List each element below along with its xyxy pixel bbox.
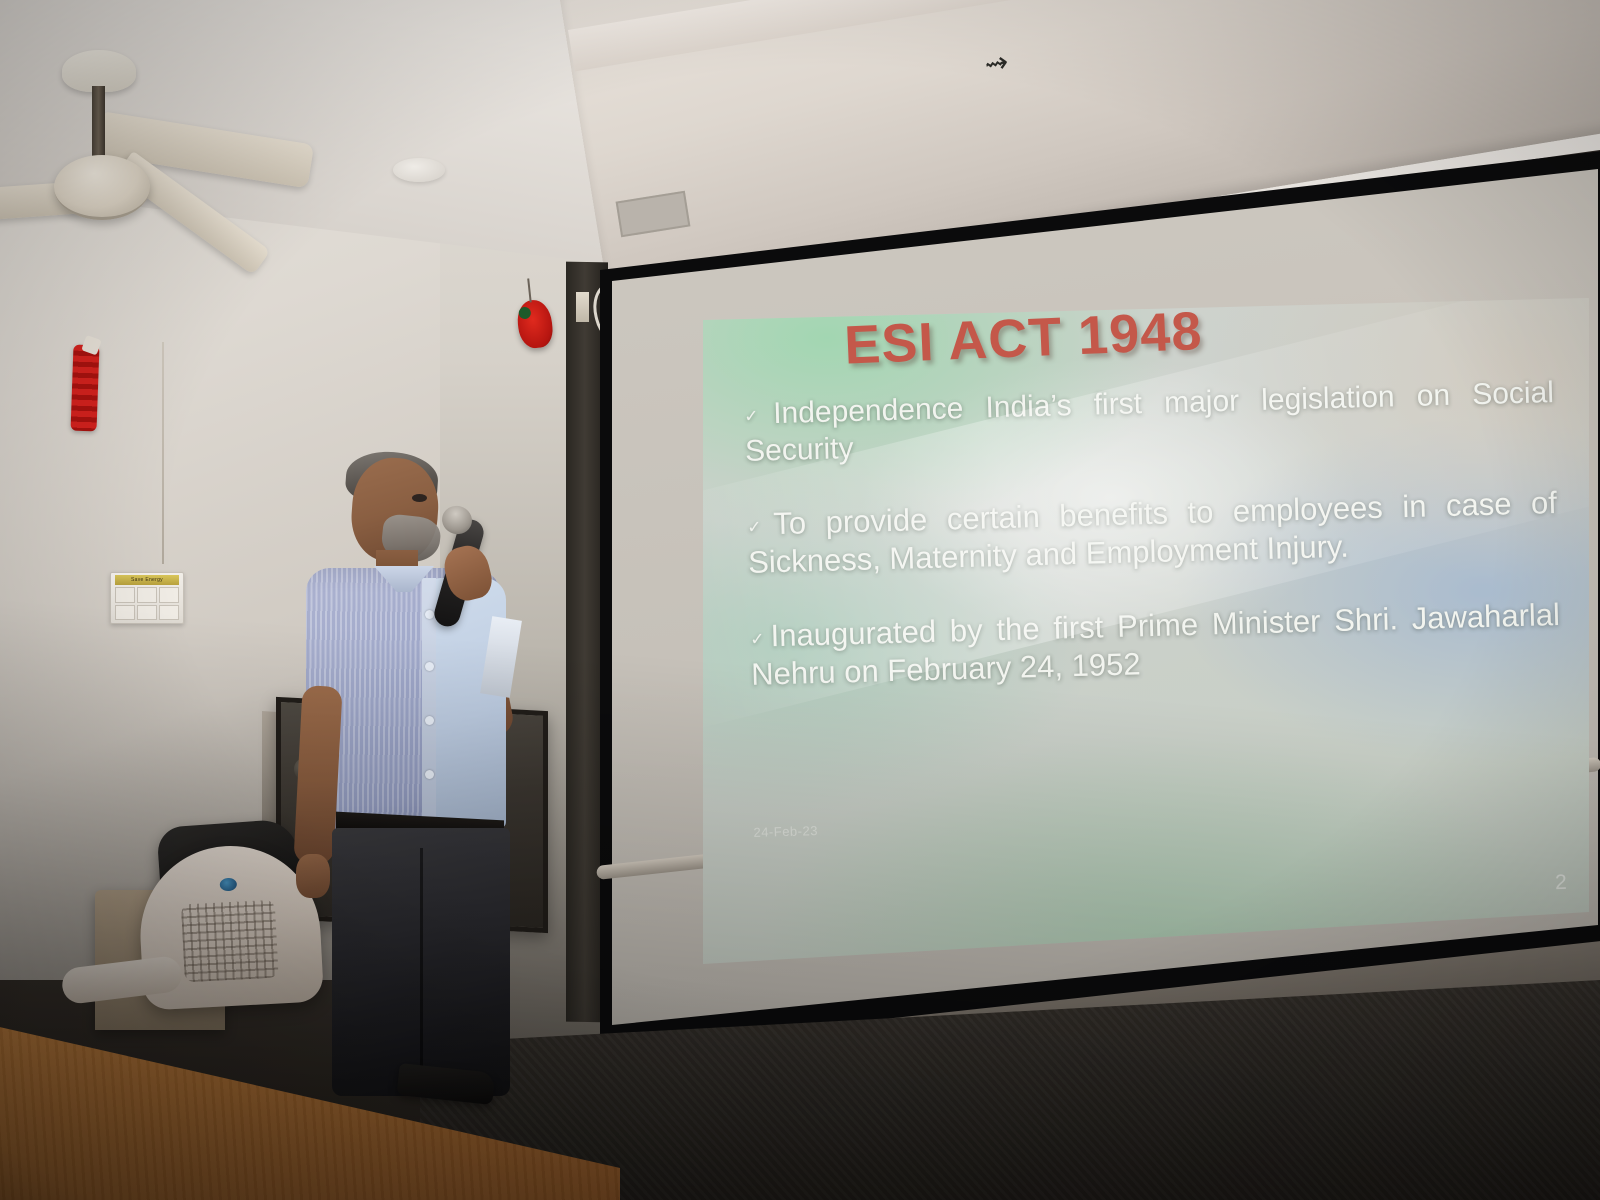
switch-plate-label: Save Energy	[115, 575, 179, 585]
shirt-button-icon	[425, 610, 434, 619]
slide-bullet-2-text: To provide certain benefits to employees…	[748, 485, 1558, 580]
presenter-left-hand	[296, 854, 330, 898]
slide-bullet-3-text: Inaugurated by the first Prime Minister …	[751, 597, 1561, 692]
switch-key[interactable]	[159, 605, 179, 621]
chair-badge-icon	[219, 878, 237, 892]
slide-bullet-1: ✓Independence India’s first major legisl…	[744, 375, 1556, 470]
ceiling-fan-icon	[54, 155, 150, 220]
switch-key[interactable]	[137, 587, 157, 603]
switch-key[interactable]	[115, 605, 135, 621]
slide-bullet-3: ✓Inaugurated by the first Prime Minister…	[750, 596, 1562, 694]
switch-key[interactable]	[115, 587, 135, 603]
shirt-button-icon	[425, 770, 434, 779]
ceiling-fan-rod	[92, 86, 105, 160]
shirt-button-icon	[425, 662, 434, 671]
checkmark-icon: ✓	[744, 406, 773, 426]
slide-date-stamp: 24-Feb-23	[753, 823, 818, 840]
projected-slide: ESI ACT 1948 ✓Independence India’s first…	[703, 298, 1589, 964]
slide-number: 2	[1555, 871, 1567, 895]
slide-bullet-1-text: Independence India’s first major legisla…	[745, 376, 1555, 467]
chair-backrest-mesh	[181, 900, 279, 983]
slide-bullet-list: ✓Independence India’s first major legisl…	[744, 375, 1563, 729]
switch-key[interactable]	[137, 605, 157, 621]
presenter	[290, 450, 520, 1100]
presenter-leg-seam	[420, 848, 423, 1092]
switch-key[interactable]	[159, 587, 179, 603]
wall-junction-box	[576, 292, 589, 322]
checkmark-icon: ✓	[747, 517, 773, 537]
red-garland-decoration	[71, 345, 100, 432]
presenter-eye	[412, 494, 427, 502]
switch-grid[interactable]	[115, 587, 179, 620]
fan-pull-cord[interactable]	[162, 342, 164, 564]
light-switch-plate[interactable]: Save Energy	[110, 572, 184, 624]
presentation-room-photo: ⇝ Save Energy ESI ACT 1948 ✓Indep	[0, 0, 1600, 1200]
smoke-detector-icon	[393, 158, 445, 182]
checkmark-icon: ✓	[750, 629, 770, 649]
shirt-button-icon	[425, 716, 434, 725]
slide-content: ESI ACT 1948 ✓Independence India’s first…	[703, 298, 1589, 964]
slide-bullet-2: ✓To provide certain benefits to employee…	[747, 484, 1559, 582]
